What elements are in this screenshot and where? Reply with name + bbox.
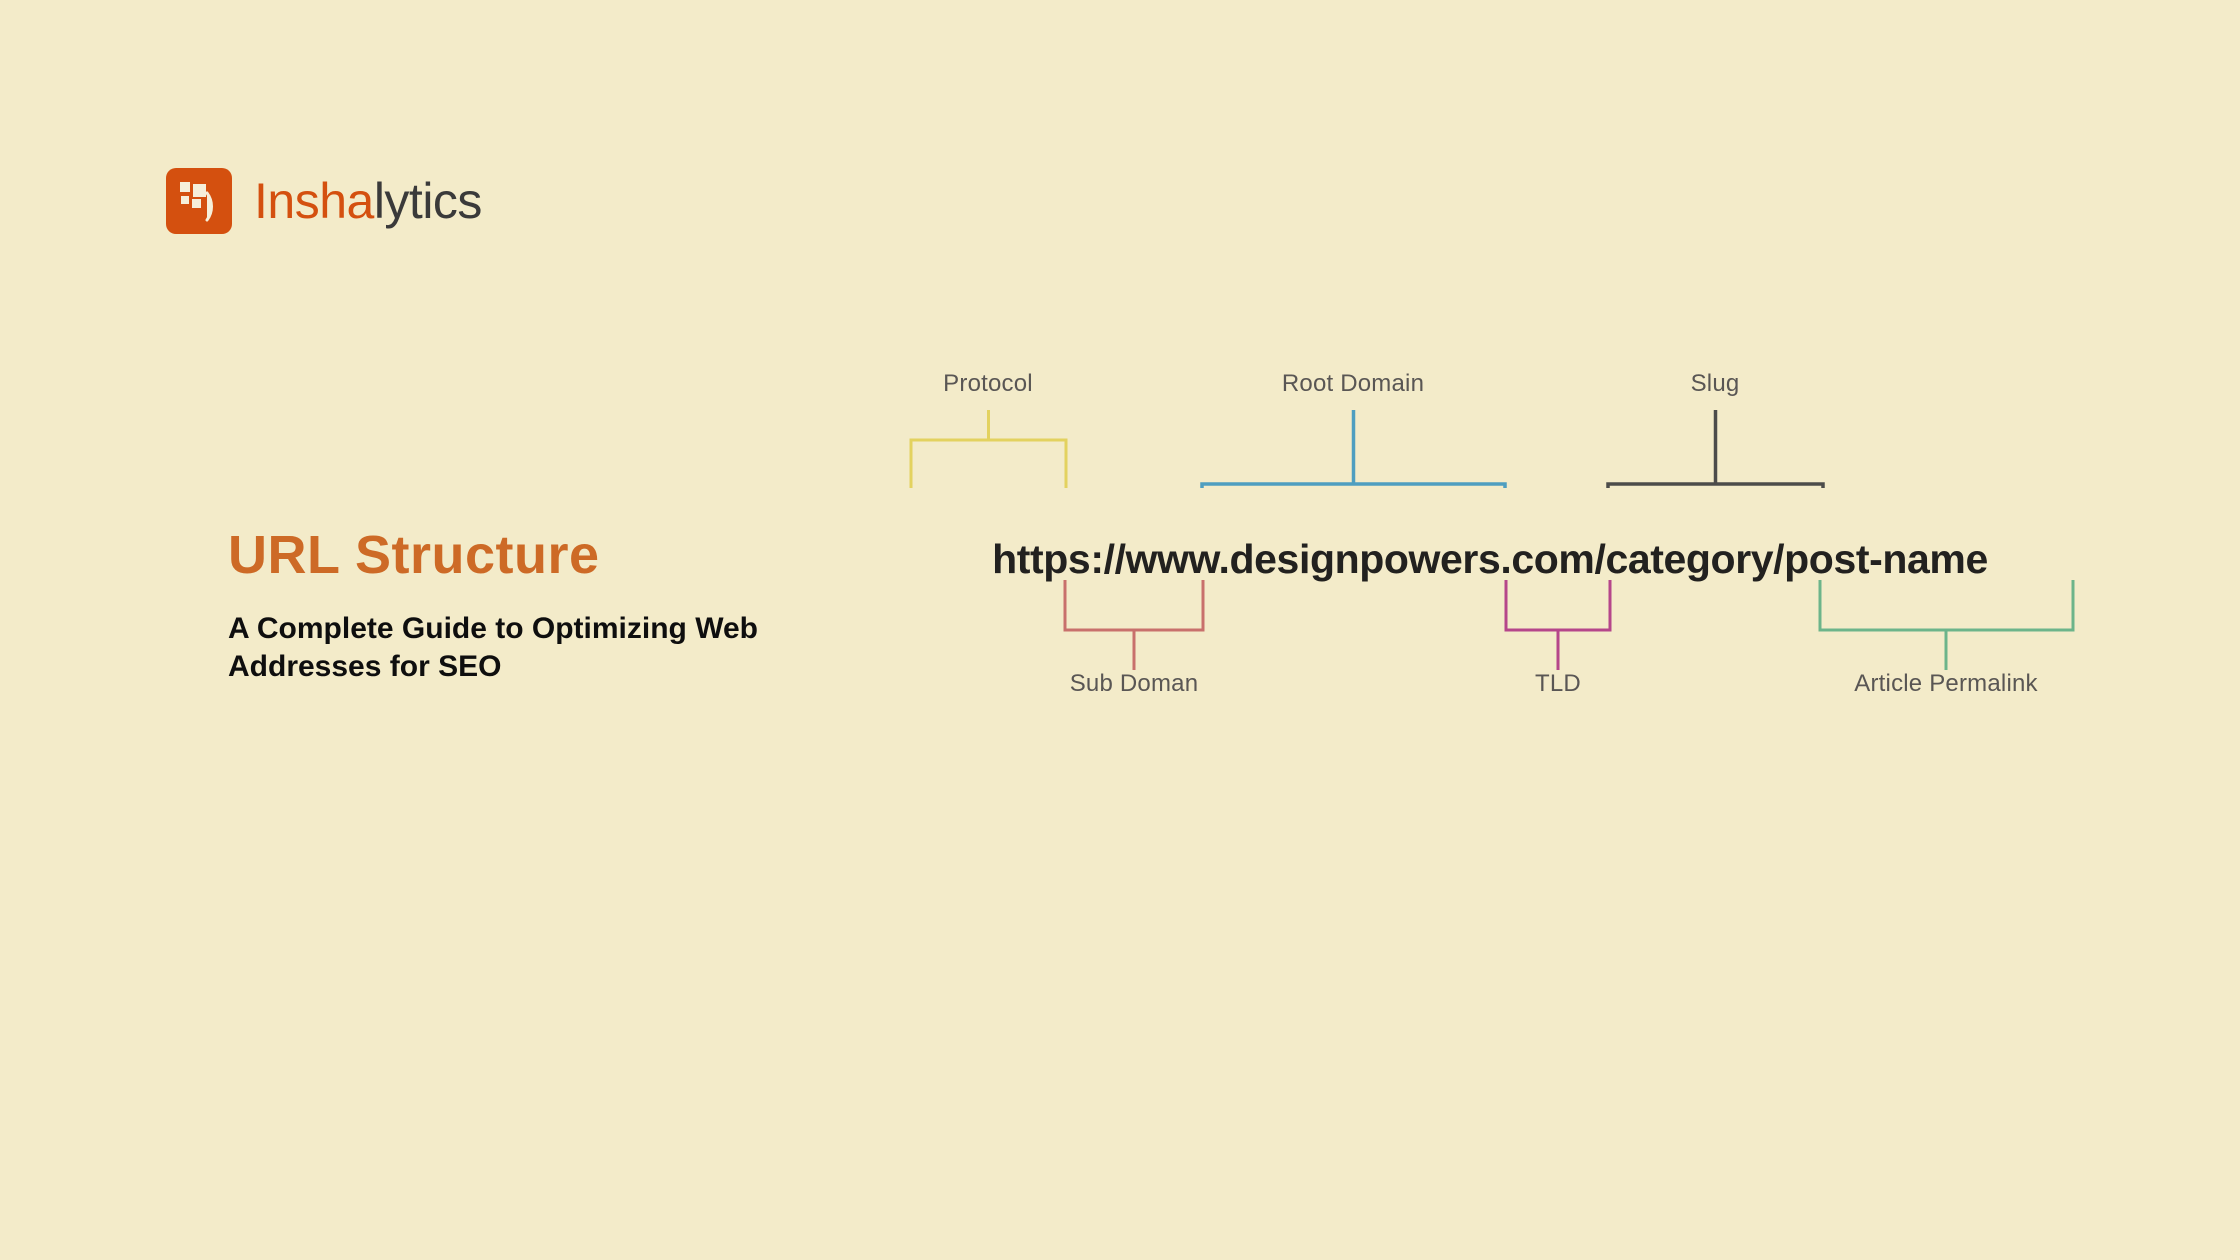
bracket-tld: [1506, 580, 1610, 670]
label-root-domain: Root Domain: [1282, 370, 1424, 398]
bracket-sub-domain: [1065, 580, 1203, 670]
bracket-protocol: [911, 410, 1066, 488]
label-article-permalink: Article Permalink: [1854, 670, 2037, 698]
bracket-article-permalink: [1820, 580, 2073, 670]
url-string: https://www.designpowers.com/category/po…: [880, 536, 2100, 583]
page-title: URL Structure: [228, 527, 908, 584]
page-subtitle: A Complete Guide to Optimizing Web Addre…: [228, 610, 878, 687]
headline-block: URL Structure A Complete Guide to Optimi…: [228, 527, 908, 686]
inshalytics-pixel-logo-icon: [166, 168, 232, 234]
label-protocol: Protocol: [943, 370, 1033, 398]
bracket-slug: [1608, 410, 1823, 488]
brand-wordmark: Inshalytics: [254, 176, 482, 226]
url-structure-diagram: https://www.designpowers.com/category/po…: [880, 370, 2100, 730]
label-slug: Slug: [1691, 370, 1740, 398]
brand-name-primary: Insha: [254, 173, 374, 229]
brand-name-secondary: lytics: [374, 173, 482, 229]
bracket-root-domain: [1202, 410, 1505, 488]
label-sub-domain: Sub Doman: [1070, 670, 1199, 698]
label-tld: TLD: [1535, 670, 1581, 698]
brand-logo[interactable]: Inshalytics: [166, 168, 482, 234]
